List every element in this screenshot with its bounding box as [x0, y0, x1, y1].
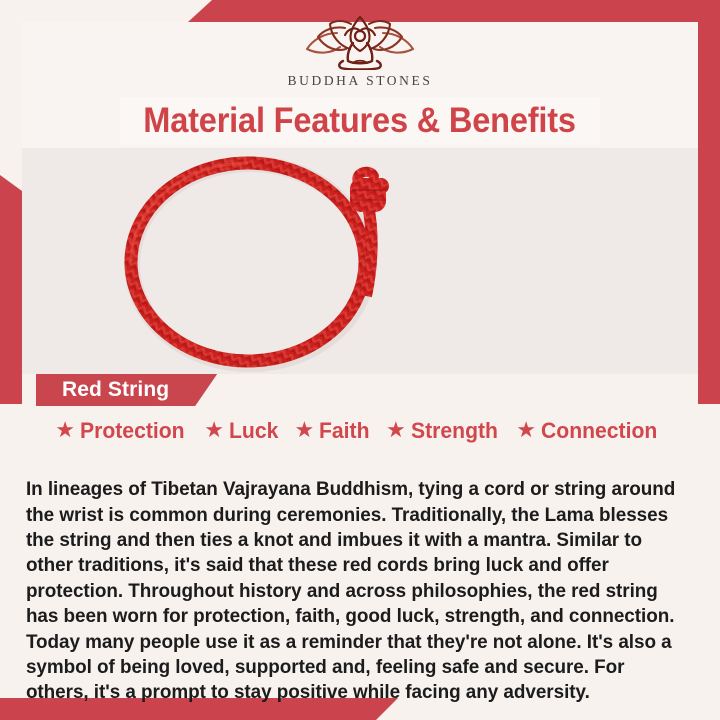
- description-paragraph: In lineages of Tibetan Vajrayana Buddhis…: [22, 477, 688, 706]
- benefit-label: Faith: [319, 418, 370, 444]
- benefit-item-strength: ★ Strength: [386, 418, 503, 444]
- star-icon: ★: [386, 419, 406, 441]
- brand-logo: BUDDHA STONES: [0, 14, 720, 89]
- star-icon: ★: [55, 419, 75, 441]
- benefit-label: Strength: [411, 418, 498, 444]
- product-label-banner: Red String: [36, 374, 217, 406]
- star-icon: ★: [204, 419, 224, 441]
- product-label: Red String: [62, 378, 169, 402]
- benefit-label: Protection: [80, 418, 185, 444]
- benefit-label: Luck: [229, 418, 278, 444]
- brand-wordmark: BUDDHA STONES: [0, 73, 720, 89]
- benefit-label: Connection: [541, 418, 657, 444]
- page-title-band: Material Features & Benefits: [120, 97, 600, 145]
- benefit-item-protection: ★ Protection: [55, 418, 191, 444]
- lotus-meditation-icon: [301, 14, 419, 70]
- benefit-item-connection: ★ Connection: [516, 418, 664, 444]
- benefit-item-luck: ★ Luck: [204, 418, 281, 444]
- product-hero: [22, 148, 698, 374]
- left-red-border: [0, 175, 22, 404]
- star-icon: ★: [295, 419, 315, 441]
- benefits-list: ★ Protection ★ Luck ★ Faith ★ Strength ★…: [22, 418, 698, 444]
- benefit-item-faith: ★ Faith: [295, 418, 373, 444]
- page-title: Material Features & Benefits: [144, 101, 577, 141]
- infographic-page: BUDDHA STONES Material Features & Benefi…: [0, 0, 720, 720]
- star-icon: ★: [516, 419, 536, 441]
- red-string-bracelet-image: [22, 148, 698, 374]
